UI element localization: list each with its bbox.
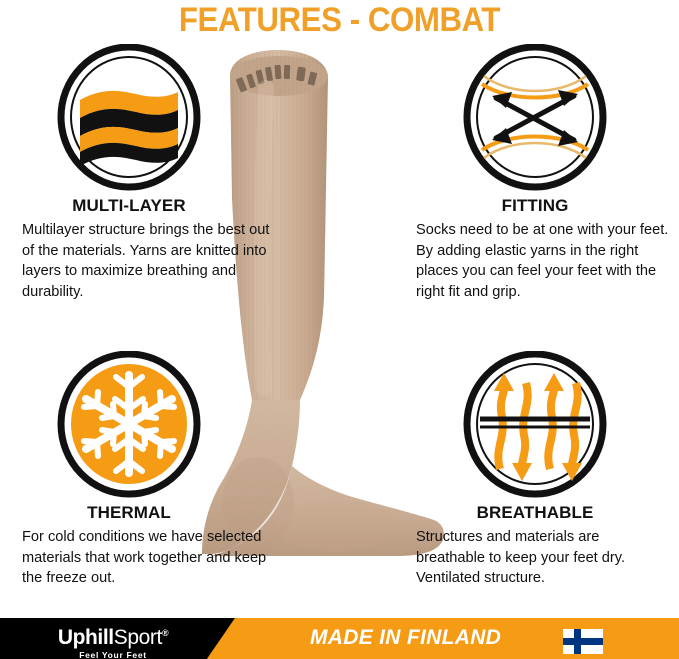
feature-title: BREATHABLE <box>462 503 608 523</box>
feature-title: MULTI-LAYER <box>56 196 202 216</box>
brand-name-first: Uphill <box>58 626 114 649</box>
feature-breathable: BREATHABLE Structures and materials are … <box>404 351 674 589</box>
crossing-arrows-icon <box>462 44 608 194</box>
feature-thermal: THERMAL For cold conditions we have sele… <box>8 351 278 589</box>
feature-title: THERMAL <box>56 503 202 523</box>
page-title: FEATURES - COMBAT <box>27 0 652 40</box>
finnish-flag-icon <box>563 629 603 654</box>
footer-bar: UphillSport® Feel Your Feet MADE IN FINL… <box>0 618 679 659</box>
feature-body: Socks need to be at one with your feet. … <box>404 220 674 303</box>
feature-body: For cold conditions we have selected mat… <box>8 527 278 589</box>
snowflake-icon <box>56 351 202 501</box>
brand-name-second: Sport <box>114 626 162 649</box>
brand-name: UphillSport® <box>28 622 198 649</box>
feature-title: FITTING <box>462 196 608 216</box>
multi-layer-waves-icon <box>56 44 202 194</box>
feature-body: Multilayer structure brings the best out… <box>8 220 278 303</box>
infographic-page: FEATURES - COMBAT <box>0 0 679 659</box>
brand-tagline: Feel Your Feet <box>28 650 198 659</box>
feature-fitting: FITTING Socks need to be at one with you… <box>404 44 674 303</box>
feature-multi-layer: MULTI-LAYER Multilayer structure brings … <box>8 44 278 303</box>
registered-mark-icon: ® <box>162 628 168 638</box>
airflow-arrows-icon <box>462 351 608 501</box>
brand-logo: UphillSport® Feel Your Feet <box>28 622 198 659</box>
feature-body: Structures and materials are breathable … <box>404 527 674 589</box>
made-in-finland-label: MADE IN FINLAND <box>310 626 501 650</box>
